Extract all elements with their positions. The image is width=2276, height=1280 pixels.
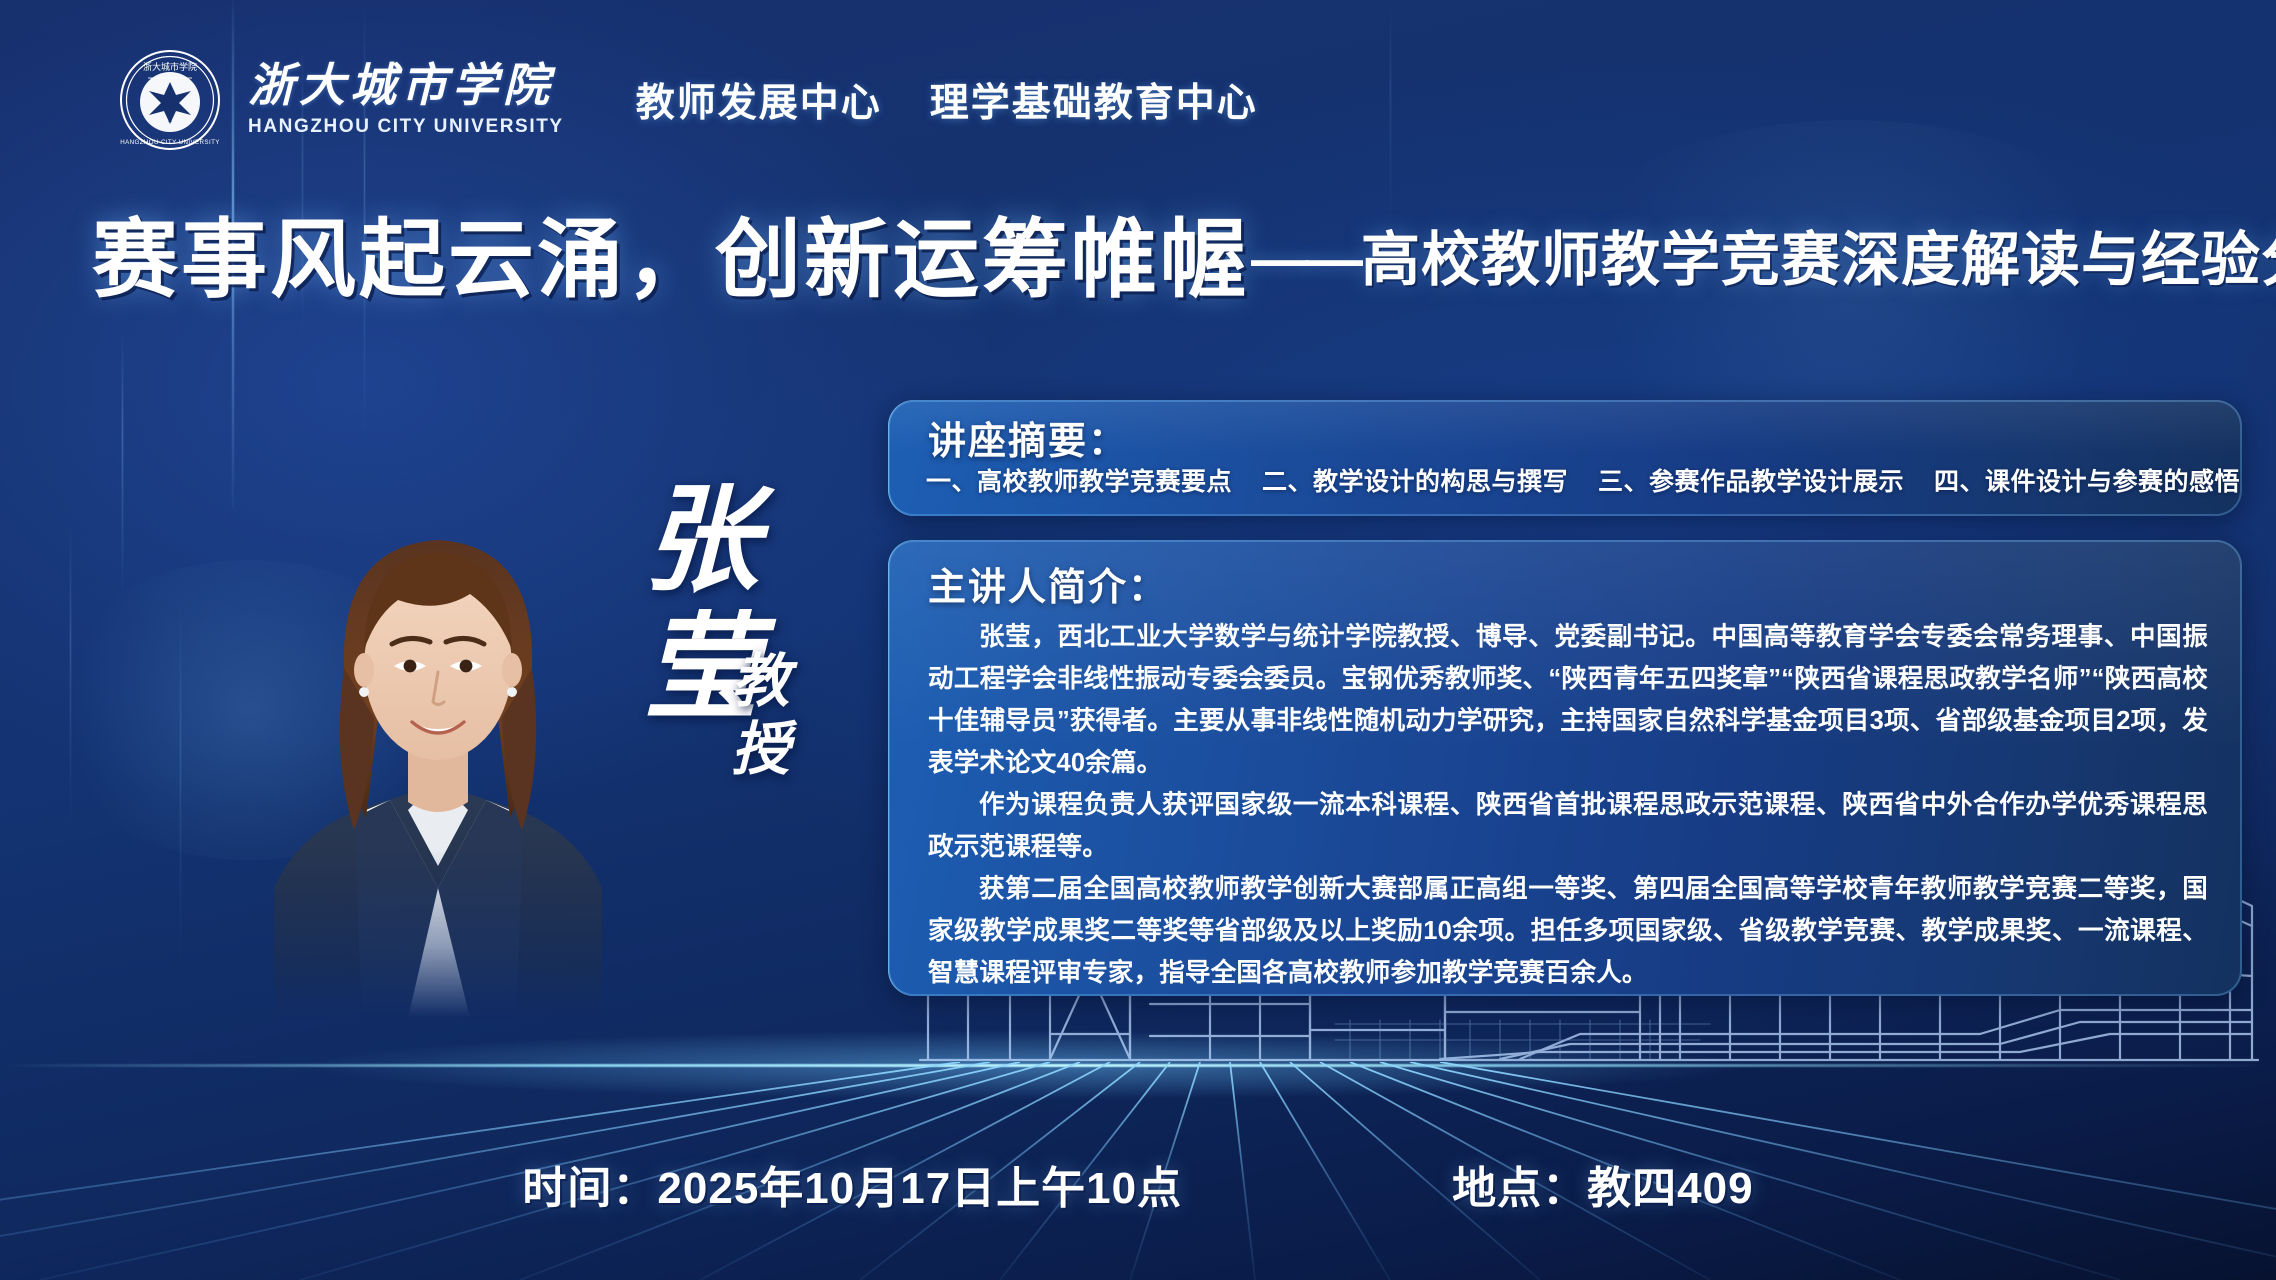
university-name-en: HANGZHOU CITY UNIVERSITY [248, 116, 564, 138]
title-dash: —— [1251, 226, 1359, 293]
light-beam [122, 330, 123, 590]
abstract-item: 四、课件设计与参赛的感悟 [1934, 462, 2240, 498]
page-title: 赛事风起云涌，创新运筹帷幄 [92, 217, 1249, 303]
department-list: 教师发展中心 理学基础教育中心 [636, 72, 1258, 128]
light-beam [70, 520, 71, 820]
poster-footer: 时间：2025年10月17日上午10点 地点：教四409 [0, 1152, 2276, 1216]
bio-paragraph: 作为课程负责人获评国家级一流本科课程、陕西省首批课程思政示范课程、陕西省中外合作… [928, 784, 2208, 868]
university-name-cn: 浙大城市学院 [248, 62, 564, 111]
bio-paragraph: 获第二届全国高校教师教学创新大赛部属正高组一等奖、第四届全国高等学校青年教师教学… [928, 868, 2208, 994]
svg-text:HANGZHOU CITY UNIVERSITY: HANGZHOU CITY UNIVERSITY [120, 139, 220, 146]
light-beam [1390, 0, 1391, 230]
abstract-item: 三、参赛作品教学设计展示 [1598, 462, 1904, 498]
poster-title-block: 赛事风起云涌，创新运筹帷幄 —— 高校教师教学竞赛深度解读与经验分享 [92, 212, 2276, 303]
speaker-bio-panel: 主讲人简介： 张莹，西北工业大学数学与统计学院教授、博导、党委副书记。中国高等教… [888, 540, 2242, 996]
department-science-basic-education: 理学基础教育中心 [930, 72, 1258, 128]
abstract-item-list: 一、高校教师教学竞赛要点 二、教学设计的构思与撰写 三、参赛作品教学设计展示 四… [926, 462, 2214, 498]
bio-body: 张莹，西北工业大学数学与统计学院教授、博导、党委副书记。中国高等教育学会专委会常… [928, 616, 2208, 994]
event-time: 时间：2025年10月17日上午10点 [522, 1152, 1182, 1216]
poster-root: 浙大城市学院 HANGZHOU CITY UNIVERSITY 浙大城市学院 H… [0, 0, 2276, 1280]
page-subtitle: 高校教师教学竞赛深度解读与经验分享 [1361, 212, 2276, 297]
bio-paragraph: 张莹，西北工业大学数学与统计学院教授、博导、党委副书记。中国高等教育学会专委会常… [928, 616, 2208, 784]
abstract-item: 一、高校教师教学竞赛要点 [926, 462, 1232, 498]
svg-text:浙大城市学院: 浙大城市学院 [143, 61, 197, 72]
university-seal-icon: 浙大城市学院 HANGZHOU CITY UNIVERSITY [118, 48, 222, 152]
abstract-panel: 讲座摘要： 一、高校教师教学竞赛要点 二、教学设计的构思与撰写 三、参赛作品教学… [888, 400, 2242, 516]
university-wordmark: 浙大城市学院 HANGZHOU CITY UNIVERSITY [248, 62, 564, 138]
bio-heading: 主讲人简介： [928, 556, 1168, 611]
speaker-portrait [258, 418, 618, 1018]
abstract-heading: 讲座摘要： [928, 410, 1128, 465]
speaker-rank: 教授 [718, 650, 791, 786]
poster-header: 浙大城市学院 HANGZHOU CITY UNIVERSITY 浙大城市学院 H… [118, 48, 1258, 152]
light-beam [180, 600, 181, 960]
event-location: 地点：教四409 [1452, 1152, 1753, 1216]
department-teacher-development: 教师发展中心 [636, 72, 882, 128]
abstract-item: 二、教学设计的构思与撰写 [1262, 462, 1568, 498]
